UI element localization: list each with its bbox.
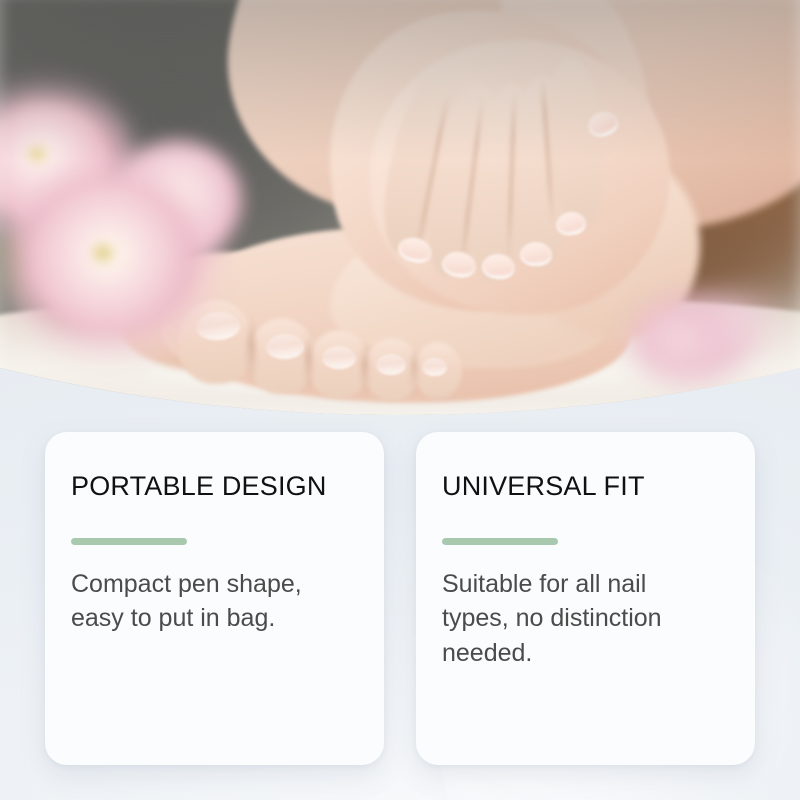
hero-photo-container xyxy=(0,0,800,415)
feature-cards-row: PORTABLE DESIGN Compact pen shape, easy … xyxy=(0,432,800,765)
photo-toenail-3 xyxy=(322,346,356,369)
feature-card-title: PORTABLE DESIGN xyxy=(71,472,358,502)
photo-fingernail-4 xyxy=(520,242,552,266)
feature-card-title: UNIVERSAL FIT xyxy=(442,472,729,502)
hero-photo-image xyxy=(0,0,800,415)
photo-toe-gap-2 xyxy=(306,332,312,394)
feature-card-accent-rule xyxy=(71,538,187,545)
photo-toenail-4 xyxy=(376,354,406,375)
feature-card-portable-design[interactable]: PORTABLE DESIGN Compact pen shape, easy … xyxy=(45,432,384,765)
photo-flower-center-2 xyxy=(90,243,116,263)
photo-toe-gap-3 xyxy=(362,342,368,396)
photo-toenail-5 xyxy=(422,358,447,376)
feature-card-body: Compact pen shape, easy to put in bag. xyxy=(71,567,321,636)
feature-card-universal-fit[interactable]: UNIVERSAL FIT Suitable for all nail type… xyxy=(416,432,755,765)
photo-toe-gap-1 xyxy=(248,316,255,388)
product-feature-page: PORTABLE DESIGN Compact pen shape, easy … xyxy=(0,0,800,800)
photo-flower-center-1 xyxy=(26,145,48,163)
photo-toe-gap-4 xyxy=(412,346,417,394)
feature-card-accent-rule xyxy=(442,538,558,545)
photo-flower-right-2 xyxy=(690,289,780,359)
feature-card-body: Suitable for all nail types, no distinct… xyxy=(442,567,692,671)
